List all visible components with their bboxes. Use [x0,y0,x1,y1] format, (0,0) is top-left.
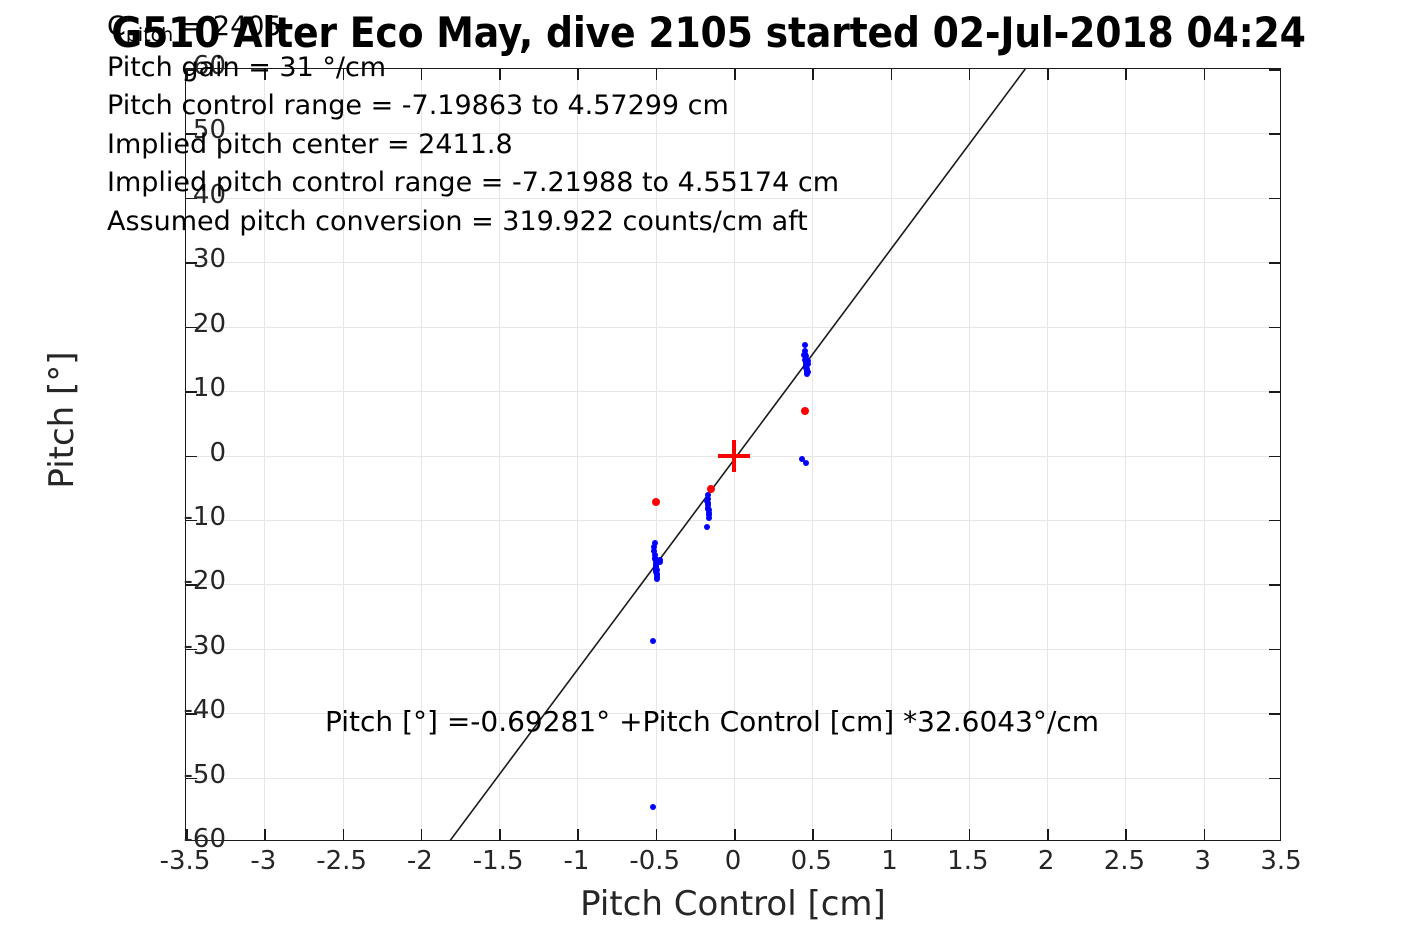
annotation-block: Cpitch = 2405 Pitch gain = 31 °/cm Pitch… [107,8,839,241]
y-axis-tick-label: -10 [156,502,226,532]
scatter-point [804,371,810,377]
y-axis-tick-label: -30 [156,631,226,661]
x-axis-tick-label: -1.5 [453,846,543,876]
scatter-point [802,357,808,363]
scatter-point [652,540,658,546]
x-axis-tick [343,829,345,840]
annotation-line-implied-pitch-center: Implied pitch center = 2411.8 [107,126,839,165]
x-axis-tick-label: 2.5 [1079,846,1169,876]
y-axis-title: Pitch [°] [42,310,82,530]
scatter-point [707,485,715,493]
x-axis-tick-label: -1 [531,846,621,876]
x-axis-tick [421,829,423,840]
y-axis-tick-right [1269,327,1280,329]
x-axis-tick-label: 0 [688,846,778,876]
x-axis-tick-label: 3.5 [1236,846,1326,876]
x-axis-tick-label: -2 [375,846,465,876]
x-axis-tick-label: 1 [845,846,935,876]
x-axis-tick-top [1204,69,1206,80]
annotation-line-c-pitch: Cpitch = 2405 [107,8,839,49]
scatter-point [706,515,712,521]
x-axis-tick-top [891,69,893,80]
x-axis-tick-label: 3 [1158,846,1248,876]
y-axis-tick-right [1269,649,1280,651]
x-axis-tick [734,829,736,840]
annotation-line-pitch-control-range: Pitch control range = -7.19863 to 4.5729… [107,87,839,126]
x-axis-tick-label: -0.5 [610,846,700,876]
x-axis-tick-top [1125,69,1127,80]
y-axis-tick-right [1269,520,1280,522]
fit-equation-label: Pitch [°] =-0.69281° +Pitch Control [cm]… [325,705,1099,738]
y-axis-tick-label: -20 [156,566,226,596]
x-axis-tick [891,829,893,840]
y-axis-tick-label: 10 [156,373,226,403]
scatter-point [704,498,710,504]
x-axis-title: Pitch Control [cm] [185,884,1281,924]
y-axis-tick-right [1269,262,1280,264]
x-axis-tick [499,829,501,840]
scatter-point [650,638,656,644]
x-axis-tick [577,829,579,840]
y-axis-tick-label: 30 [156,244,226,274]
x-axis-tick-label: -2.5 [297,846,387,876]
scatter-point [650,804,656,810]
y-axis-tick-right [1269,456,1280,458]
y-axis-tick-right [1269,713,1280,715]
annotation-line-pitch-gain: Pitch gain = 31 °/cm [107,49,839,88]
x-axis-tick-top [1047,69,1049,80]
y-axis-tick-right [1269,778,1280,780]
x-axis-tick-label: -3 [218,846,308,876]
scatter-point [654,567,660,573]
center-marker-vertical [732,440,736,472]
scatter-point [654,576,660,582]
x-axis-tick-label: 2 [1001,846,1091,876]
x-axis-tick [1204,829,1206,840]
x-axis-tick [656,829,658,840]
y-axis-tick-label: 0 [156,438,226,468]
annotation-line-implied-pitch-control-range: Implied pitch control range = -7.21988 t… [107,164,839,203]
x-axis-tick [969,829,971,840]
scatter-point [657,559,663,565]
x-axis-tick [264,829,266,840]
y-axis-tick-right [1269,584,1280,586]
scatter-point [704,524,710,530]
y-axis-tick-right [1269,198,1280,200]
x-axis-tick [1125,829,1127,840]
x-axis-tick-top [969,69,971,80]
scatter-point [705,506,711,512]
scatter-point [652,498,660,506]
y-axis-tick-right [1269,391,1280,393]
y-axis-tick-label: -60 [156,824,226,854]
annotation-line-assumed-pitch-conversion: Assumed pitch conversion = 319.922 count… [107,203,839,242]
c-pitch-subscript: pitch [126,24,173,46]
scatter-point [801,407,809,415]
x-axis-tick-label: 1.5 [923,846,1013,876]
y-axis-tick-right [1269,69,1280,71]
y-axis-tick-label: -50 [156,760,226,790]
y-axis-tick-label: -40 [156,695,226,725]
figure-canvas: G510 Alter Eco May, dive 2105 started 02… [0,0,1417,945]
c-pitch-symbol: C [107,11,126,42]
y-axis-tick-right [1269,133,1280,135]
scatter-point [803,460,809,466]
x-axis-tick [812,829,814,840]
c-pitch-value: = 2405 [173,11,282,42]
x-axis-tick [1047,829,1049,840]
x-axis-tick-label: 0.5 [766,846,856,876]
y-axis-tick-label: 20 [156,309,226,339]
